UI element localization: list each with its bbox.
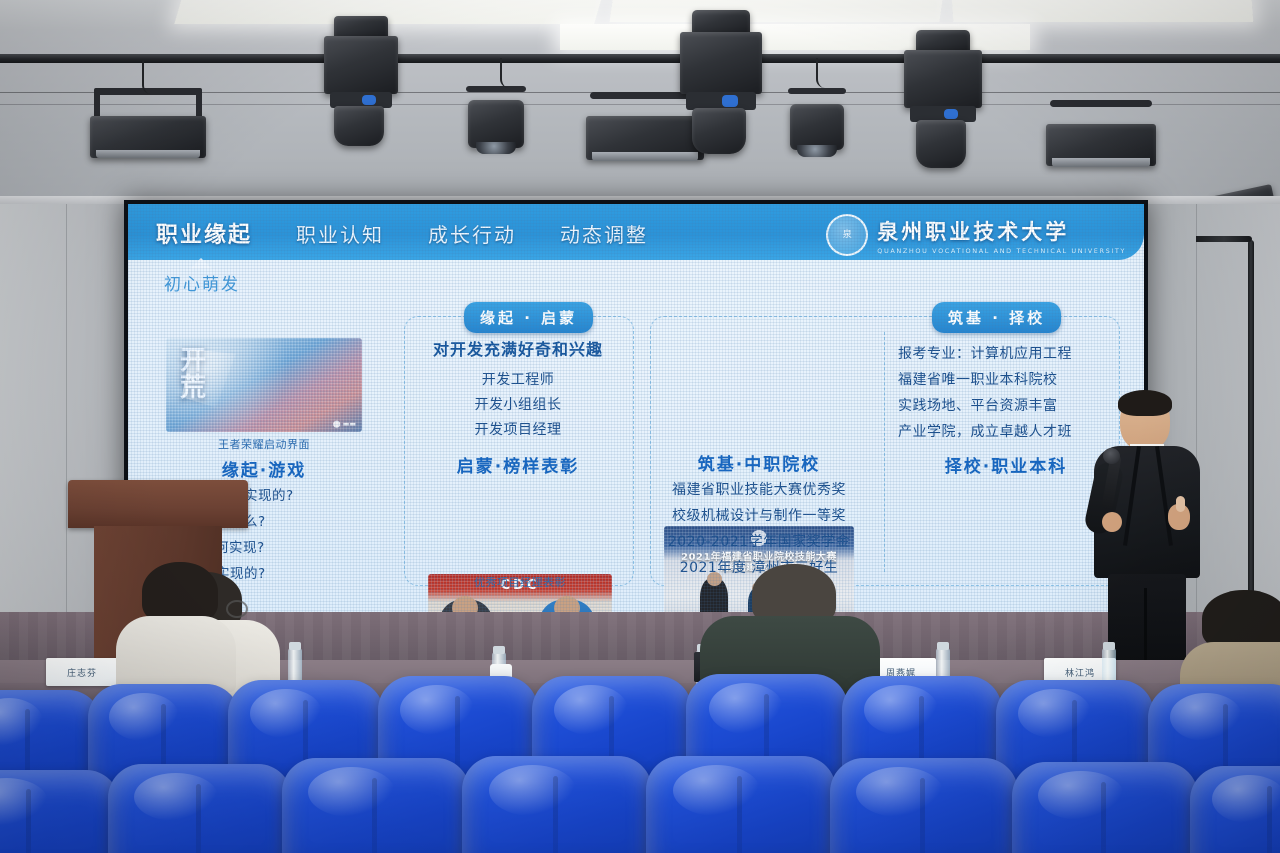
stage-light-icon: [784, 88, 850, 166]
section-pill-foundation: 筑基 · 择校: [932, 302, 1061, 333]
nameplate-text-0: 庄志芬: [67, 666, 97, 679]
seat-row2-2: [108, 764, 292, 853]
seal-text: 泉: [843, 231, 852, 240]
col-third-line-1: 校级机械设计与制作一等奖: [652, 504, 866, 529]
hair: [142, 562, 218, 624]
section-pill-origin: 缘起 · 启蒙: [464, 302, 593, 333]
col-center-role-0: 开发工程师: [404, 368, 632, 393]
bottle-cap: [289, 642, 301, 650]
bottle-cap: [937, 642, 949, 650]
ceiling-light-panel: [609, 0, 944, 22]
nav-tab-0[interactable]: 职业缘起: [156, 217, 252, 249]
stage-light-icon: [462, 86, 530, 164]
game-screenshot-photo: 开荒 ⬤ ▬▬: [166, 338, 362, 432]
stage-light-icon: [88, 88, 208, 158]
light-cable: [500, 58, 520, 88]
presenter-hair: [1118, 390, 1172, 416]
nav-tab-2[interactable]: 成长行动: [428, 219, 516, 248]
game-photo-caption: 王者荣耀启动界面: [166, 436, 362, 452]
col-third-line-2: 2020-2021学年国家奖学金: [652, 530, 866, 555]
seat-row2-7: [1012, 762, 1198, 853]
column-divider: [884, 332, 885, 572]
university-name-en: QUANZHOU VOCATIONAL AND TECHNICAL UNIVER…: [877, 247, 1126, 255]
auditorium-scene: 职业缘起 职业认知 成长行动 动态调整 泉 泉州职业技术大学 QUANZHOU …: [0, 0, 1280, 853]
slide-sub-label: 初心萌发: [164, 270, 240, 295]
award-photo-caption: 优秀项目经理表彰: [428, 574, 612, 590]
seat-row2-3: [282, 758, 470, 853]
seat-row2-6: [830, 758, 1018, 853]
col-right-line-1: 福建省唯一职业本科院校: [898, 368, 1114, 393]
seat-row2-4: [462, 756, 652, 853]
bottle-cap: [493, 646, 505, 654]
presentation-slide: 职业缘起 职业认知 成长行动 动态调整 泉 泉州职业技术大学 QUANZHOU …: [128, 204, 1144, 614]
audience-member-4: [116, 562, 236, 682]
stage-light-icon: [898, 30, 988, 170]
col-center-role-1: 开发小组组长: [404, 393, 632, 418]
nav-tab-3[interactable]: 动态调整: [560, 219, 648, 248]
presenter-trousers: [1108, 574, 1186, 672]
col-third-line-0: 福建省职业技能大赛优秀奖: [652, 478, 866, 503]
university-seal-icon: 泉: [826, 214, 868, 256]
nav-active-caret: [190, 258, 212, 269]
seat-row2-1: [0, 770, 120, 853]
ceiling-light-panel: [951, 0, 1254, 22]
light-cable: [142, 60, 168, 94]
university-name-cn: 泉州职业技术大学: [877, 216, 1126, 246]
col-center-headline: 对开发充满好奇和兴趣: [404, 336, 632, 360]
col-right-line-0: 报考专业：计算机应用工程: [898, 342, 1114, 367]
wall-seam: [66, 204, 67, 644]
seat-row2-8: [1190, 766, 1280, 853]
presenter-hand: [1102, 512, 1122, 532]
nav-tab-1[interactable]: 职业认知: [296, 219, 384, 248]
col-left-title: 缘起·游戏: [166, 456, 362, 481]
light-cable: [816, 58, 834, 88]
nameplate-0: 庄志芬: [46, 658, 118, 686]
seat-row2-5: [646, 756, 836, 853]
university-brand: 泉 泉州职业技术大学 QUANZHOU VOCATIONAL AND TECHN…: [826, 214, 1126, 256]
body: [116, 616, 236, 692]
col-center-title: 启蒙·榜样表彰: [404, 452, 632, 477]
nameplate-text-2: 林江鸿: [1065, 666, 1095, 679]
wall-conduit: [1196, 236, 1252, 242]
slide-nav-items: 职业缘起 职业认知 成长行动 动态调整: [156, 217, 648, 249]
hair: [1202, 590, 1280, 650]
col-center-role-2: 开发项目经理: [404, 418, 632, 443]
lighting-truss: [0, 54, 1280, 63]
col-third-title: 筑基·中职院校: [664, 450, 854, 475]
bottle-cap: [1103, 642, 1115, 650]
stage-light-icon: [672, 10, 768, 154]
stage-light-icon: [318, 16, 404, 146]
stage-light-icon: [1042, 100, 1160, 170]
